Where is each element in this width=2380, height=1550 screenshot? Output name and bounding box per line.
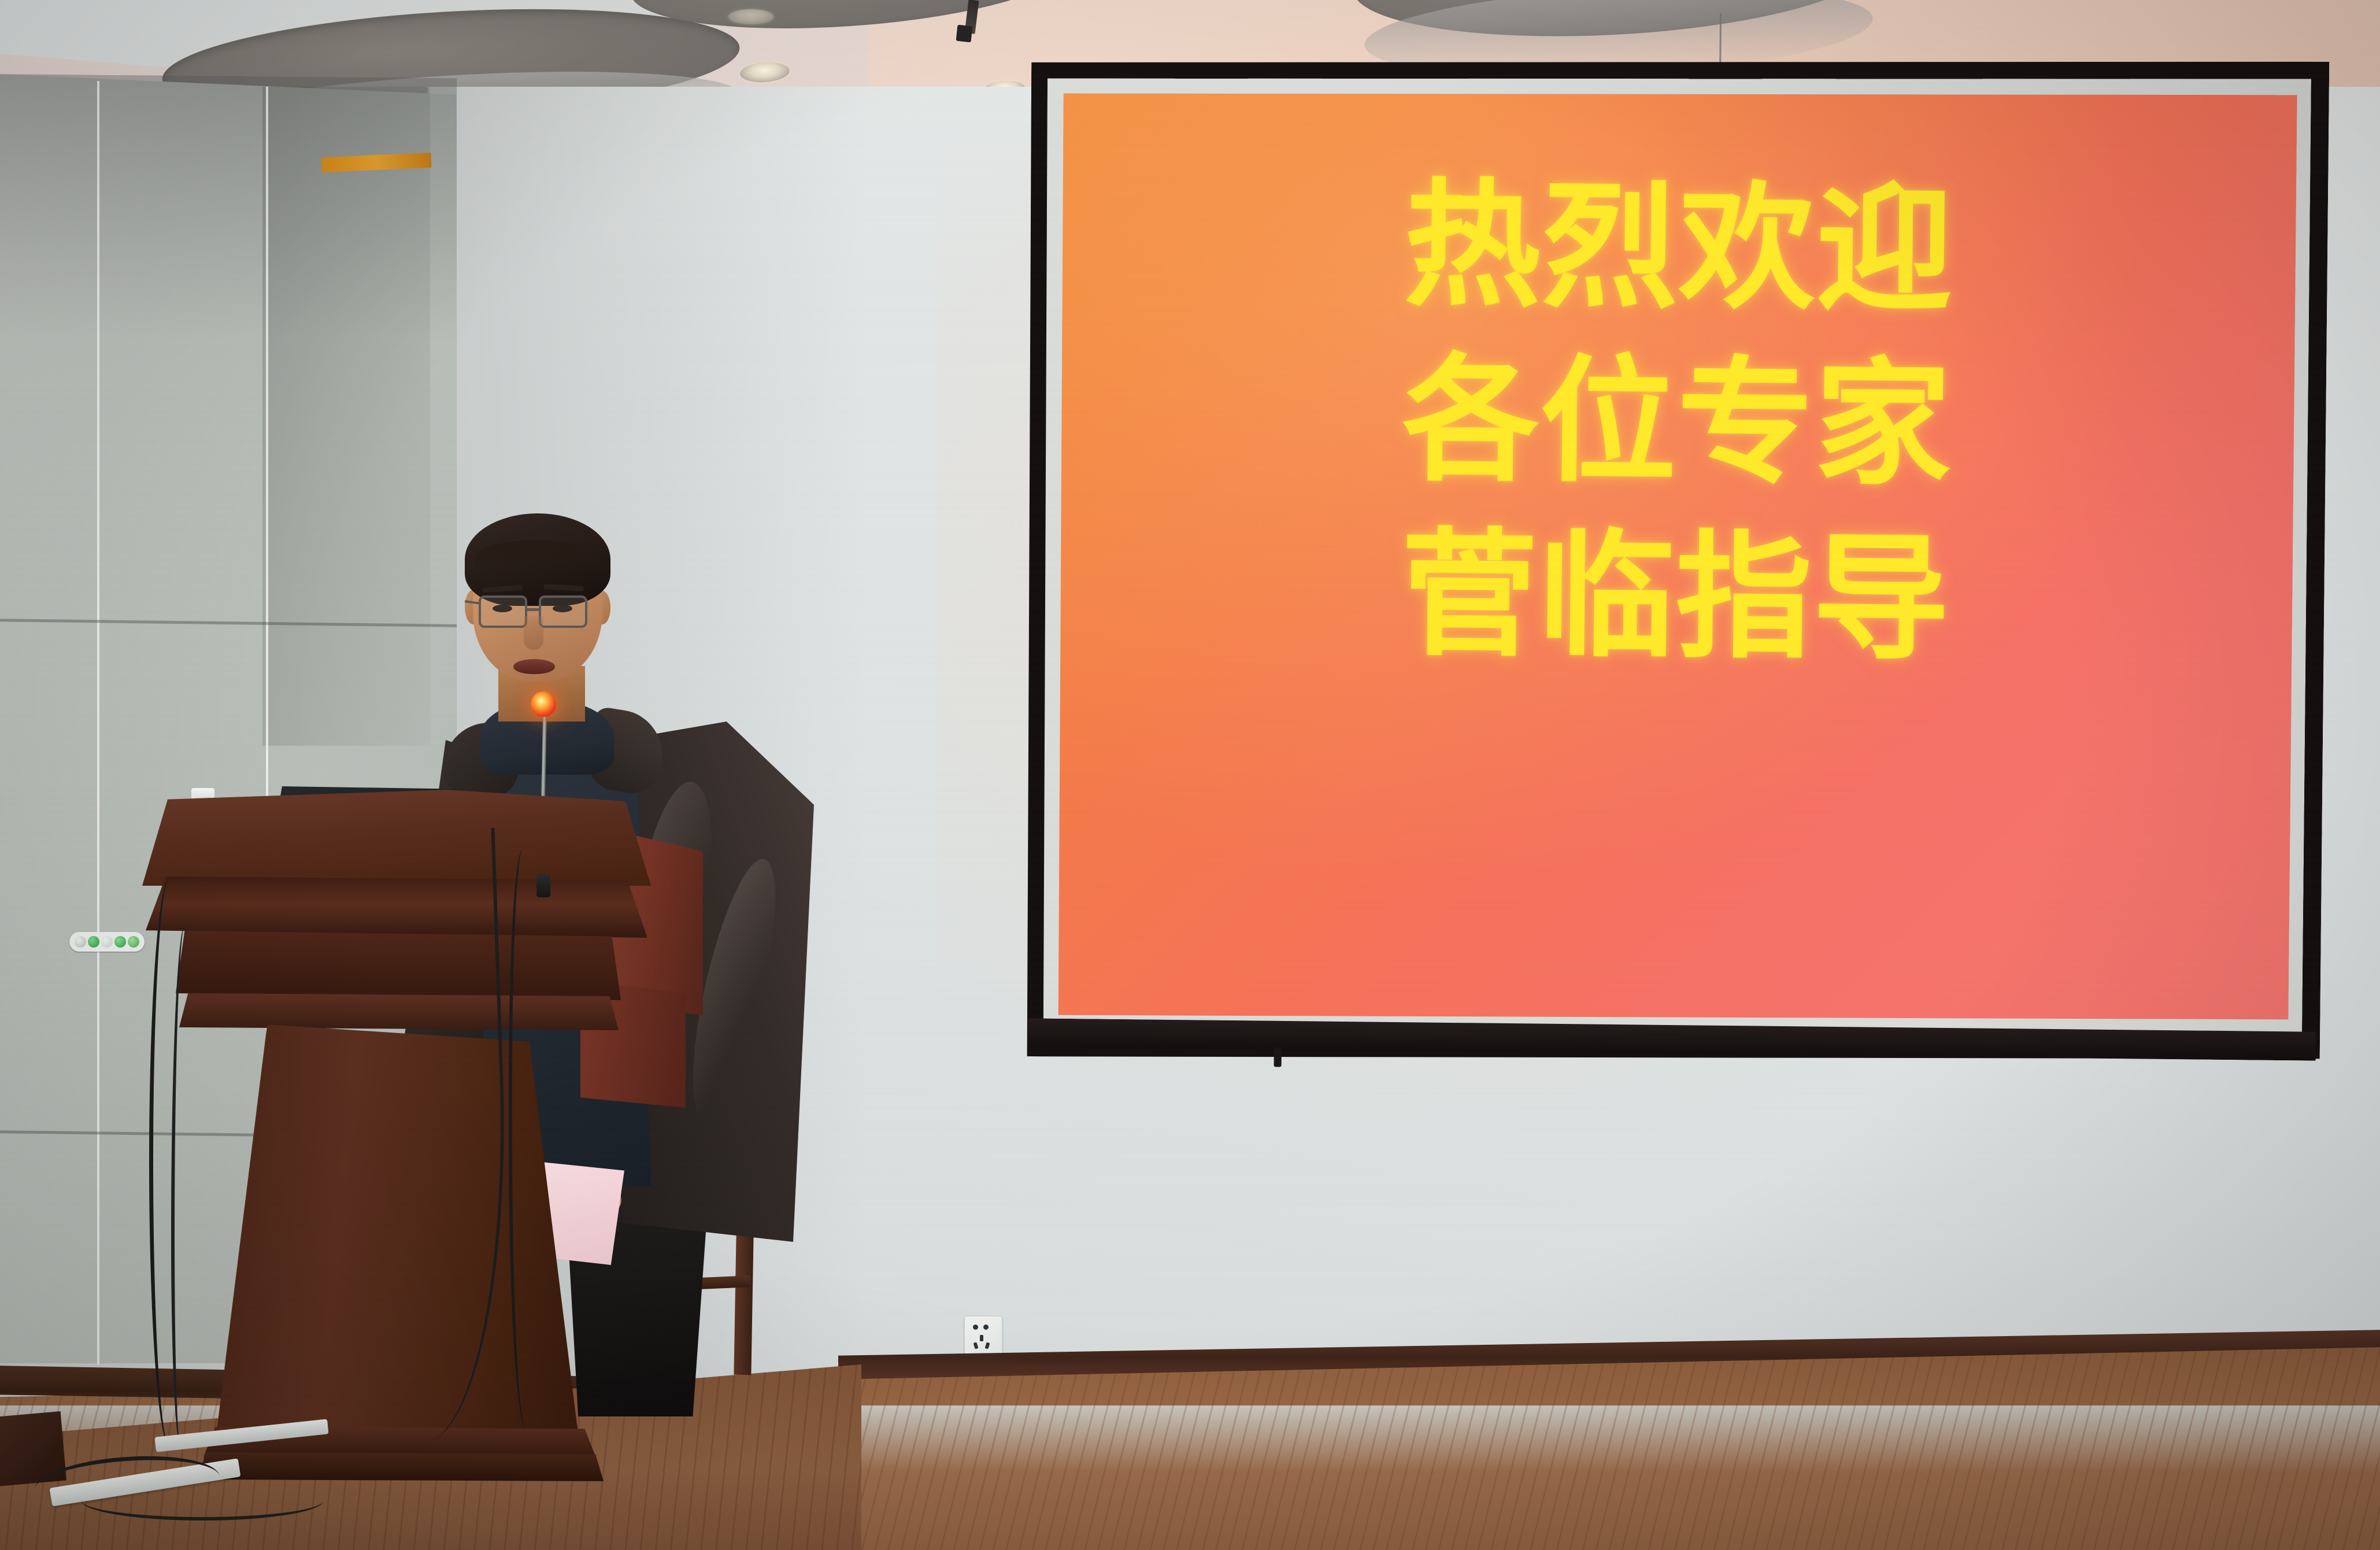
cable: [81, 1480, 324, 1521]
speaker-nose: [524, 616, 543, 650]
badge-dot-icon: [88, 936, 99, 948]
socket-pin: [973, 1325, 978, 1330]
projection-screen[interactable]: 热烈欢迎 各位专家 菅临指导: [1022, 49, 2330, 1068]
cable: [509, 850, 543, 1428]
socket-pin: [983, 1325, 989, 1330]
glasses-lens: [539, 595, 587, 628]
glasses-lens: [479, 595, 527, 628]
slide-line-3: 菅临指导: [1058, 504, 2293, 691]
slide-line-2: 各位专家: [1060, 330, 2295, 516]
projection-screen-surface: 热烈欢迎 各位专家 菅临指导: [1054, 83, 2297, 1027]
recessed-downlight-icon: [728, 9, 773, 24]
badge-dot-icon: [101, 936, 113, 948]
ceiling-sensor-icon: [956, 25, 973, 43]
speaker-mouth: [513, 659, 555, 674]
slide-line-1: 热烈欢迎: [1061, 155, 2297, 342]
conference-room-photo: 热烈欢迎 各位专家 菅临指导 专家座: [0, 0, 2380, 1550]
socket-pin: [980, 1335, 983, 1341]
podium-base: [198, 1452, 604, 1481]
screen-hook[interactable]: [1274, 1047, 1282, 1067]
podium-logo-badge: [69, 932, 145, 952]
badge-dot-icon: [128, 936, 139, 948]
wall-socket[interactable]: [964, 1316, 1002, 1356]
badge-dot-icon: [75, 936, 86, 948]
screen-pull-cord[interactable]: [1719, 13, 1722, 63]
socket-pin: [973, 1342, 978, 1349]
socket-pin: [984, 1342, 990, 1349]
speaker-hair-fringe: [474, 540, 599, 576]
badge-dot-icon: [114, 936, 126, 948]
microphone-led-icon: [531, 691, 556, 717]
slide-welcome-text: 热烈欢迎 各位专家 菅临指导: [1058, 155, 2297, 691]
glasses-bridge: [527, 608, 540, 611]
wall-panel-seam: [97, 81, 99, 1364]
